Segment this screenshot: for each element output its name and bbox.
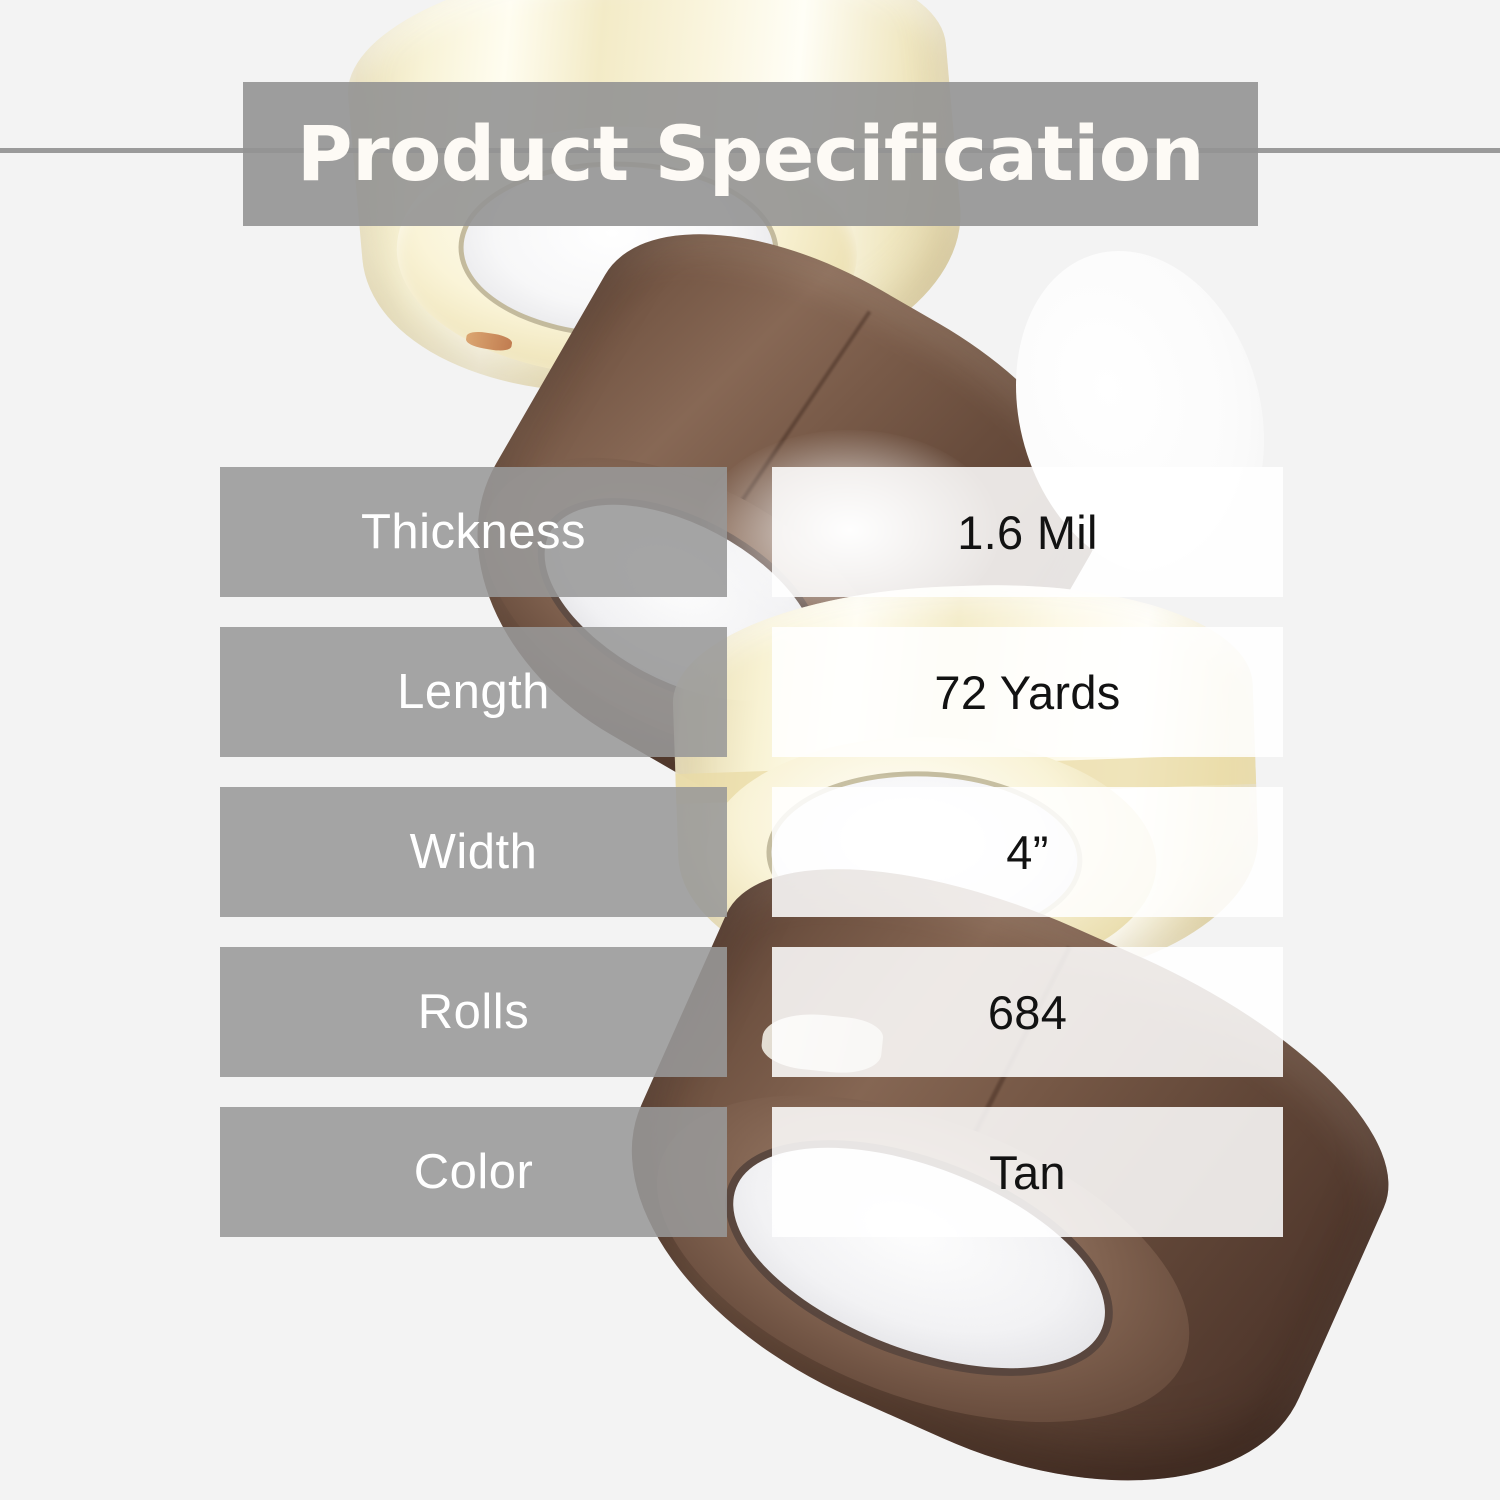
title-banner: Product Specification [243, 82, 1258, 226]
spec-value-thickness: 1.6 Mil [772, 467, 1283, 597]
spec-label-text: Rolls [418, 988, 529, 1037]
spec-label-rolls: Rolls [220, 947, 727, 1077]
spec-label-text: Width [410, 828, 538, 877]
spec-label-thickness: Thickness [220, 467, 727, 597]
table-row: Thickness 1.6 Mil [0, 467, 1500, 597]
spec-value-text: 72 Yards [934, 669, 1120, 716]
table-row: Length 72 Yards [0, 627, 1500, 757]
spec-label-text: Thickness [361, 508, 586, 557]
table-row: Width 4” [0, 787, 1500, 917]
spec-value-color: Tan [772, 1107, 1283, 1237]
spec-value-text: 1.6 Mil [957, 509, 1098, 556]
specification-table: Thickness 1.6 Mil Length 72 Yards Width … [0, 467, 1500, 1267]
spec-value-length: 72 Yards [772, 627, 1283, 757]
page-title: Product Specification [297, 116, 1204, 192]
spec-label-text: Color [414, 1148, 534, 1197]
spec-value-rolls: 684 [772, 947, 1283, 1077]
spec-label-color: Color [220, 1107, 727, 1237]
spec-value-text: 4” [1006, 829, 1048, 876]
spec-label-width: Width [220, 787, 727, 917]
spec-value-text: 684 [988, 989, 1067, 1036]
product-specification-infographic: Product Specification Thickness 1.6 Mil … [0, 0, 1500, 1500]
table-row: Color Tan [0, 1107, 1500, 1237]
spec-label-length: Length [220, 627, 727, 757]
spec-label-text: Length [397, 668, 550, 717]
spec-value-width: 4” [772, 787, 1283, 917]
table-row: Rolls 684 [0, 947, 1500, 1077]
spec-value-text: Tan [989, 1149, 1066, 1196]
